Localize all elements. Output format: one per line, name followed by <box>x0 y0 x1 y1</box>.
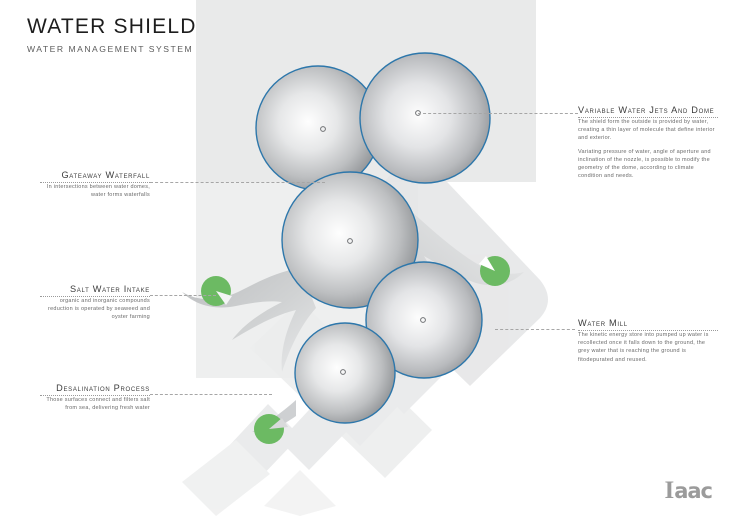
leader-line-desalination-process <box>150 394 272 395</box>
annotation-variable-water-jets: Variable water jets and dome The shield … <box>578 105 718 185</box>
paragraph: The kinetic energy store into pumped up … <box>578 331 718 364</box>
leader-line-salt-water-intake <box>150 295 216 296</box>
leader-line-water-mill <box>495 329 575 330</box>
paragraph: Variating pressure of water, angle of ap… <box>578 148 718 181</box>
annotation-heading-variable-water-jets: Variable water jets and dome <box>578 105 718 117</box>
annotation-heading-salt-water-intake: Salt water intake <box>40 284 150 296</box>
leader-line-variable-water-jets <box>418 113 578 114</box>
annotation-water-mill: Water mill The kinetic energy store into… <box>578 318 718 369</box>
paragraph: Those surfaces connect and filters salt … <box>40 396 150 412</box>
dome-upper-right[interactable] <box>360 53 490 183</box>
page-subtitle: WATER MANAGEMENT SYSTEM <box>27 44 197 54</box>
annotation-gateaway-waterfall: Gateaway waterfall In intersections betw… <box>40 170 150 204</box>
annotation-body-water-mill: The kinetic energy store into pumped up … <box>578 331 718 364</box>
title-block: WATER SHIELD WATER MANAGEMENT SYSTEM <box>27 14 197 54</box>
diagram-canvas: WATER SHIELD WATER MANAGEMENT SYSTEM Var… <box>0 0 730 516</box>
iaac-logo: Iaac <box>664 478 712 503</box>
water-shield-illustration <box>0 0 730 516</box>
annotation-body-salt-water-intake: organic and inorganic compounds reductio… <box>40 297 150 322</box>
paragraph: In intersections between water domes, wa… <box>40 183 150 199</box>
leader-line-gateaway-waterfall <box>150 182 325 183</box>
paragraph: organic and inorganic compounds reductio… <box>40 297 150 322</box>
annotation-body-gateaway-waterfall: In intersections between water domes, wa… <box>40 183 150 199</box>
annotation-desalination-process: Desalination process Those surfaces conn… <box>40 383 150 417</box>
logo-letter-i: I <box>664 477 674 504</box>
annotation-heading-gateaway-waterfall: Gateaway waterfall <box>40 170 150 182</box>
annotation-heading-water-mill: Water mill <box>578 318 718 330</box>
annotation-body-desalination-process: Those surfaces connect and filters salt … <box>40 396 150 412</box>
paragraph: The shield form the outside is provided … <box>578 118 718 143</box>
dome-lower-left[interactable] <box>295 323 395 423</box>
annotation-salt-water-intake: Salt water intake organic and inorganic … <box>40 284 150 327</box>
logo-letters-aac: aac <box>674 479 712 503</box>
annotation-heading-desalination-process: Desalination process <box>40 383 150 395</box>
annotation-body-variable-water-jets: The shield form the outside is provided … <box>578 118 718 180</box>
page-title: WATER SHIELD <box>27 14 197 40</box>
